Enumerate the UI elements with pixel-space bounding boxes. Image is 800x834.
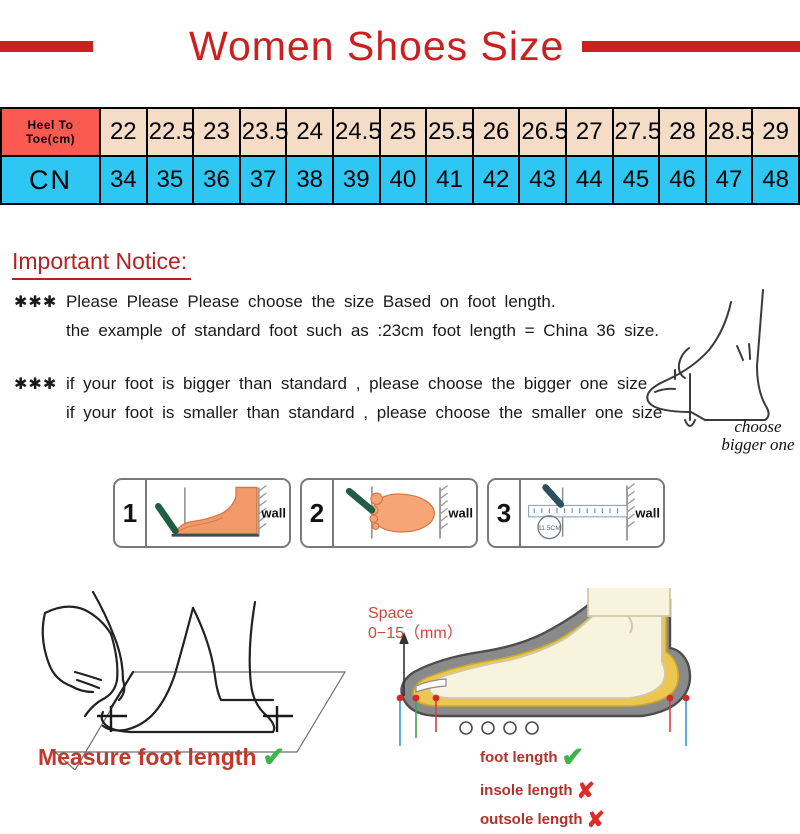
cross-icon: ✘ [587, 805, 605, 834]
cell-cn: 34 [100, 156, 147, 204]
cross-icon: ✘ [577, 776, 595, 805]
check-icon: ✔ [263, 742, 286, 773]
cell-cm: 22.5 [147, 108, 194, 156]
page-title: Women Shoes Size [93, 23, 582, 70]
page-title-row: Women Shoes Size [0, 22, 800, 70]
cell-cm: 24 [286, 108, 333, 156]
row-label-heel-to-toe: Heel To Toe(cm) [1, 108, 100, 156]
cell-cn: 46 [659, 156, 706, 204]
step-3-wall-label: wall [635, 506, 660, 521]
cell-cn: 40 [380, 156, 427, 204]
cell-cn: 45 [613, 156, 660, 204]
cell-cn: 48 [752, 156, 799, 204]
check-icon: ✔ [561, 740, 584, 776]
notice-item-2-line2: if your foot is smaller than standard , … [14, 403, 662, 423]
label-outsole-length: outsole length ✘ [480, 805, 605, 834]
cell-cm: 26.5 [519, 108, 566, 156]
cell-cn: 44 [566, 156, 613, 204]
label-foot-length-text: foot length [480, 748, 557, 768]
cell-cm: 24.5 [333, 108, 380, 156]
cell-cm: 29 [752, 108, 799, 156]
step-2-illustration: wall [334, 480, 476, 546]
shoe-measurement-labels: foot length ✔ insole length ✘ outsole le… [480, 740, 605, 834]
cell-cm: 26 [473, 108, 520, 156]
notice-item-1-line2: the example of standard foot such as :23… [14, 321, 659, 341]
space-label-line1: Space [368, 604, 463, 624]
cell-cn: 47 [706, 156, 753, 204]
cell-cm: 28 [659, 108, 706, 156]
size-chart-table: Heel To Toe(cm) 22 22.5 23 23.5 24 24.5 … [0, 107, 800, 205]
step-1-illustration: wall [147, 480, 289, 546]
cell-cm: 22 [100, 108, 147, 156]
cell-cm: 27.5 [613, 108, 660, 156]
step-3: 3 [487, 478, 665, 548]
ruler-badge-text: 11.5CM [538, 525, 561, 532]
foot-caption: choose bigger one [698, 418, 800, 454]
title-rule-right [582, 41, 800, 52]
step-1-wall-label: wall [261, 506, 286, 521]
cell-cm: 28.5 [706, 108, 753, 156]
cell-cn: 41 [426, 156, 473, 204]
table-row-cm: Heel To Toe(cm) 22 22.5 23 23.5 24 24.5 … [1, 108, 799, 156]
notice-heading: Important Notice: [12, 248, 191, 280]
notice-text: if your foot is bigger than standard , p… [66, 374, 647, 393]
notice-item-1: ✱✱✱ Please Please Please choose the size… [14, 292, 659, 350]
bullet-stars: ✱✱✱ [14, 376, 57, 393]
step-1: 1 wall [113, 478, 291, 548]
measurement-steps: 1 wall 2 [113, 478, 665, 548]
notice-item-2: ✱✱✱ if your foot is bigger than standard… [14, 374, 662, 432]
step-3-number: 3 [489, 480, 521, 546]
cell-cn: 35 [147, 156, 194, 204]
space-annotation: Space 0−15（mm） [368, 604, 463, 644]
foot-caption-line1: choose [698, 418, 800, 436]
foot-caption-line2: bigger one [698, 436, 800, 454]
table-row-cn: CN 34 35 36 37 38 39 40 41 42 43 44 45 4… [1, 156, 799, 204]
notice-item-1-line1: ✱✱✱ Please Please Please choose the size… [14, 292, 659, 312]
cell-cm: 27 [566, 108, 613, 156]
step-3-illustration: 11.5CM wall [521, 480, 663, 546]
row-label-cn: CN [1, 156, 100, 204]
cell-cn: 39 [333, 156, 380, 204]
cell-cn: 42 [473, 156, 520, 204]
cell-cm: 25.5 [426, 108, 473, 156]
cell-cn: 37 [240, 156, 287, 204]
cell-cn: 38 [286, 156, 333, 204]
cell-cm: 23.5 [240, 108, 287, 156]
cell-cn: 36 [193, 156, 240, 204]
label-insole-length-text: insole length [480, 781, 573, 801]
step-1-number: 1 [115, 480, 147, 546]
label-insole-length: insole length ✘ [480, 776, 605, 805]
notice-item-2-line1: ✱✱✱ if your foot is bigger than standard… [14, 374, 662, 394]
cell-cn: 43 [519, 156, 566, 204]
title-rule-left [0, 41, 93, 52]
label-outsole-length-text: outsole length [480, 810, 583, 830]
step-2: 2 wall [300, 478, 478, 548]
measure-caption-text: Measure foot length [38, 744, 257, 771]
measure-caption: Measure foot length ✔ [38, 742, 285, 773]
label-foot-length: foot length ✔ [480, 740, 605, 776]
bullet-stars: ✱✱✱ [14, 294, 57, 311]
cell-cm: 25 [380, 108, 427, 156]
space-label-line2: 0−15（mm） [368, 624, 463, 644]
notice-text: Please Please Please choose the size Bas… [66, 292, 556, 311]
step-2-wall-label: wall [448, 506, 473, 521]
cell-cm: 23 [193, 108, 240, 156]
step-2-number: 2 [302, 480, 334, 546]
